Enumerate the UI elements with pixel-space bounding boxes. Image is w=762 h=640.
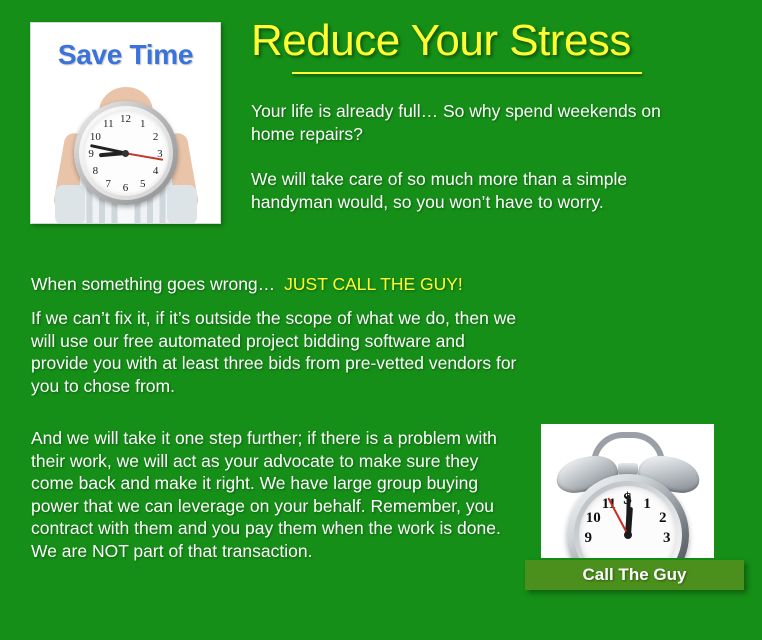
wall-clock-numeral: 12 — [119, 112, 133, 126]
body-paragraph-advocate: And we will take it one step further; if… — [31, 427, 511, 562]
wall-clock-icon: 12 1 2 3 4 5 6 7 8 9 10 11 — [74, 101, 178, 205]
alarm-clock-numeral: 9 — [580, 530, 596, 546]
wall-clock-center-pin — [122, 150, 129, 157]
wall-clock-numeral: 11 — [101, 117, 115, 131]
alarm-clock-numeral: 2 — [655, 510, 671, 526]
save-time-image-card: Save Time 12 1 2 3 4 5 6 7 8 — [30, 22, 221, 224]
wall-clock-numeral: 4 — [149, 164, 163, 178]
callout-accent-text: JUST CALL THE GUY! — [284, 274, 463, 294]
save-time-title: Save Time — [31, 39, 220, 71]
person-right-sleeve — [167, 185, 197, 224]
person-left-sleeve — [55, 185, 85, 224]
wall-clock-numeral: 1 — [136, 117, 150, 131]
body-paragraph-bidding: If we can’t fix it, if it’s outside the … — [31, 307, 521, 397]
person-with-clock-illustration: 12 1 2 3 4 5 6 7 8 9 10 11 — [51, 83, 201, 224]
wall-clock-numeral: 8 — [88, 164, 102, 178]
wall-clock-face: 12 1 2 3 4 5 6 7 8 9 10 11 — [83, 110, 169, 196]
wall-clock-numeral: 7 — [101, 177, 115, 191]
alarm-clock-center-pin — [624, 531, 632, 539]
alarm-clock-image-card: $ 1 2 3 9 10 11 — [541, 424, 714, 558]
title-underline — [292, 72, 642, 74]
alarm-clock-numeral: 10 — [585, 510, 601, 526]
intro-paragraph-1: Your life is already full… So why spend … — [251, 100, 693, 146]
slide-canvas: Save Time 12 1 2 3 4 5 6 7 8 — [0, 0, 762, 640]
call-the-guy-caption-text: Call The Guy — [525, 560, 744, 590]
intro-copy: Your life is already full… So why spend … — [251, 100, 693, 214]
wall-clock-numeral: 9 — [84, 147, 98, 161]
wall-clock-numeral: 5 — [136, 177, 150, 191]
callout-line: When something goes wrong…JUST CALL THE … — [31, 274, 463, 295]
wall-clock-numeral: 6 — [119, 181, 133, 195]
alarm-clock-numeral: 1 — [639, 496, 655, 512]
call-the-guy-caption-bar: Call The Guy — [525, 560, 744, 590]
page-title: Reduce Your Stress — [251, 16, 631, 66]
intro-paragraph-2: We will take care of so much more than a… — [251, 168, 693, 214]
wall-clock-numeral: 2 — [149, 130, 163, 144]
callout-lead-text: When something goes wrong… — [31, 274, 275, 294]
alarm-clock-icon: $ 1 2 3 9 10 11 — [553, 430, 703, 558]
wall-clock-numeral: 10 — [88, 130, 102, 144]
alarm-clock-numeral: 3 — [659, 530, 675, 546]
